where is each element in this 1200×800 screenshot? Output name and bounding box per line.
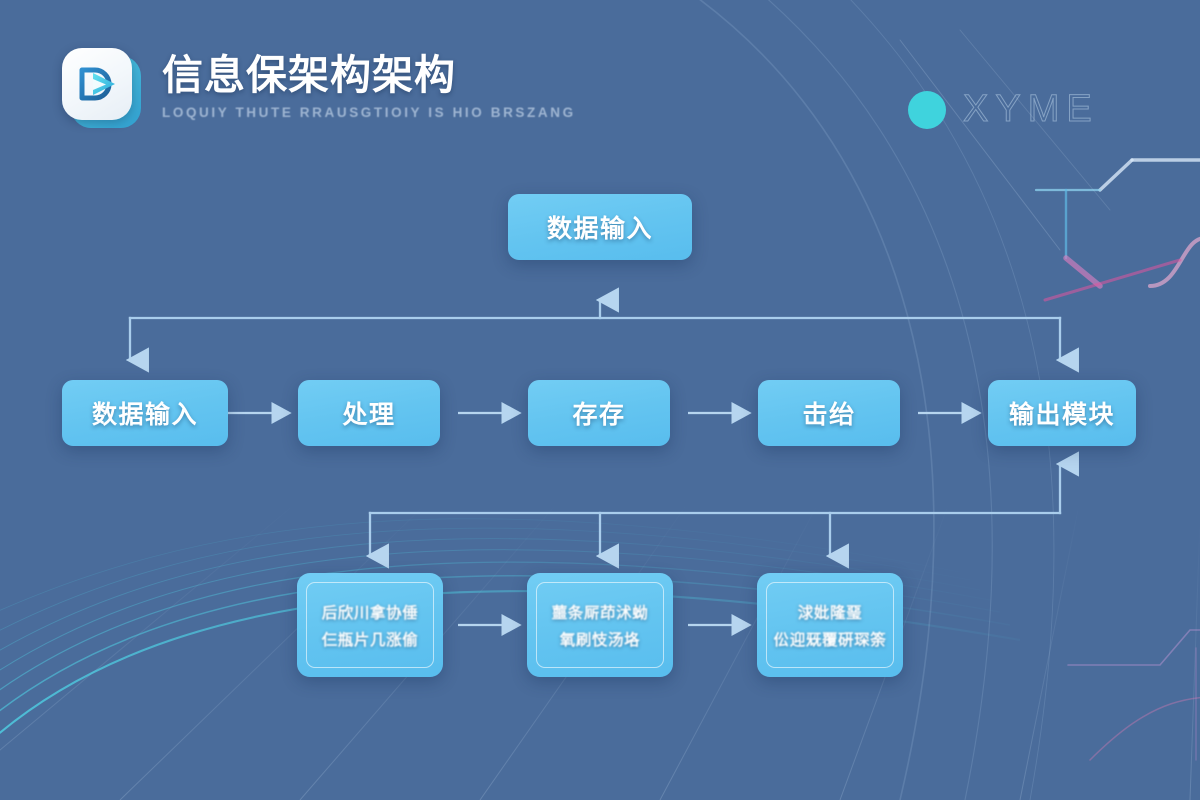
node-label-line1: 蘁条厛茚沭蚴 xyxy=(552,601,649,623)
node-bottom-3[interactable]: 浗妣隆琧 伀迎兓覆硏琛筡 xyxy=(757,573,903,677)
node-inner-frame: 后欣川拿协倕 仨瓶片几涨偷 xyxy=(306,582,434,668)
node-label: 数据输入 xyxy=(547,209,653,245)
node-label: 击绐 xyxy=(802,395,855,431)
node-label-line1: 浗妣隆琧 xyxy=(798,601,862,623)
node-bottom-1[interactable]: 后欣川拿协倕 仨瓶片几涨偷 xyxy=(297,573,443,677)
node-label: 数据输入 xyxy=(92,395,198,431)
node-label: 处理 xyxy=(342,395,395,431)
node-label-line1: 后欣川拿协倕 xyxy=(322,601,419,623)
node-label-line2: 伀迎兓覆硏琛筡 xyxy=(774,628,887,650)
node-mid-4[interactable]: 击绐 xyxy=(758,380,900,446)
node-top-data-input[interactable]: 数据输入 xyxy=(508,194,692,260)
infographic-canvas: 信息保架构架构 LOQUIY THUTE RRAUSGTIOIY IS HIO … xyxy=(0,0,1200,800)
node-bottom-2[interactable]: 蘁条厛茚沭蚴 氧刷忮汤垎 xyxy=(527,573,673,677)
node-inner-frame: 浗妣隆琧 伀迎兓覆硏琛筡 xyxy=(766,582,894,668)
node-mid-5-output[interactable]: 输出模块 xyxy=(988,380,1136,446)
node-label-line2: 氧刷忮汤垎 xyxy=(560,628,641,650)
node-mid-2[interactable]: 处理 xyxy=(298,380,440,446)
node-mid-3[interactable]: 存存 xyxy=(528,380,670,446)
node-label: 存存 xyxy=(572,395,625,431)
node-mid-1[interactable]: 数据输入 xyxy=(62,380,228,446)
node-inner-frame: 蘁条厛茚沭蚴 氧刷忮汤垎 xyxy=(536,582,664,668)
node-label-line2: 仨瓶片几涨偷 xyxy=(322,628,419,650)
node-label: 输出模块 xyxy=(1009,395,1115,431)
